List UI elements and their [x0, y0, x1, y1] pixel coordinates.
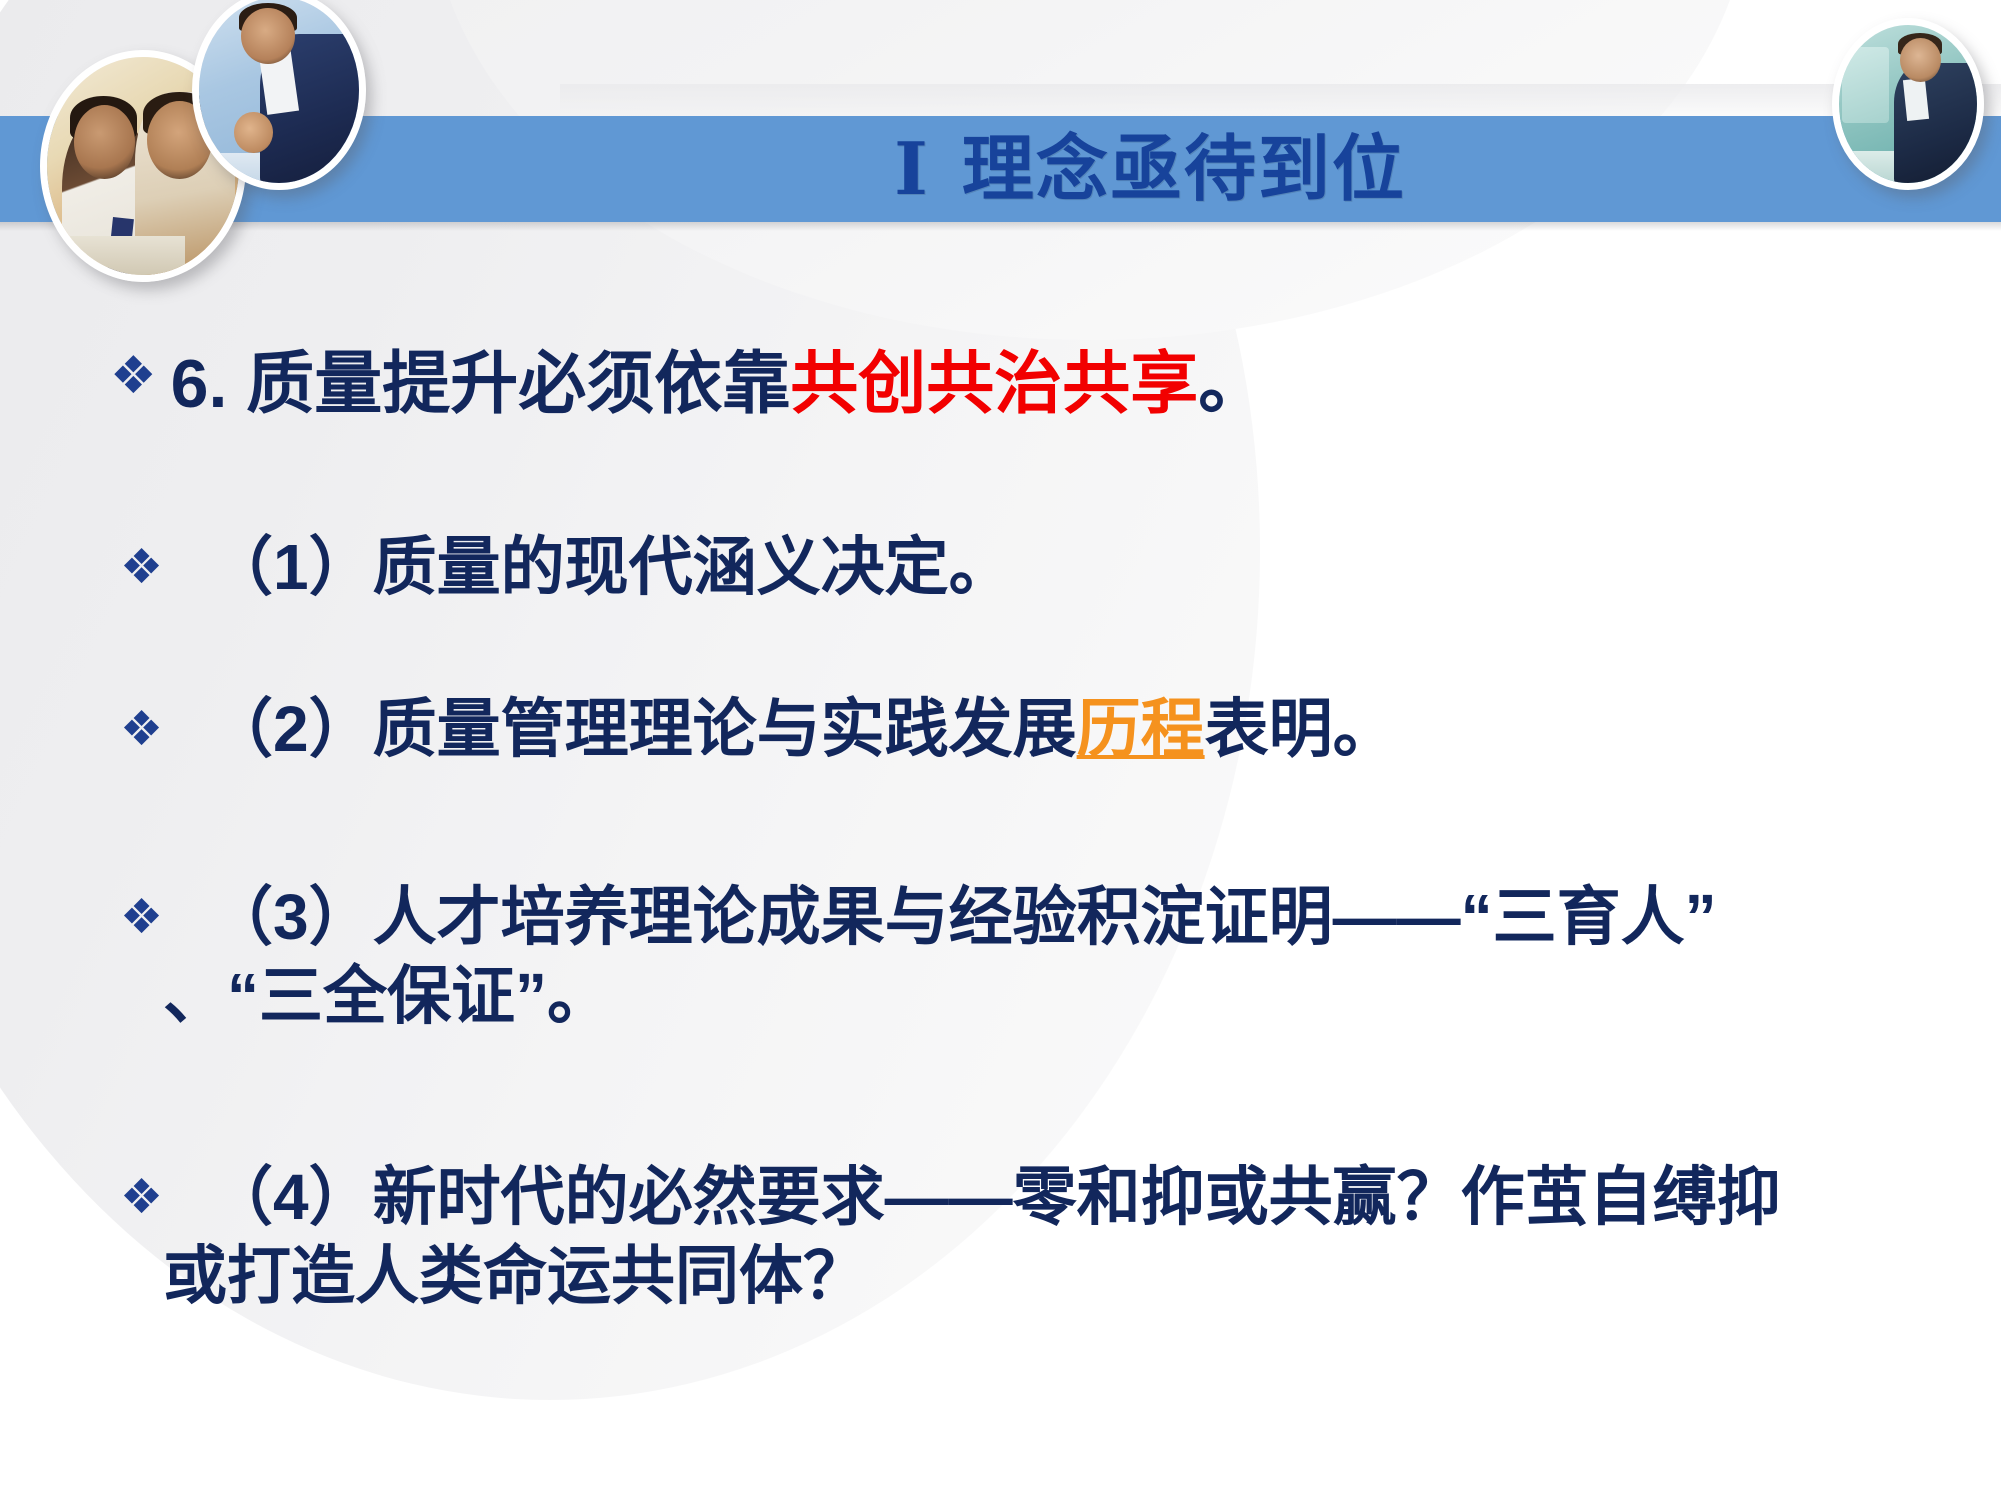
bullet-item-2-text: （2）质量管理理论与实践发展历程表明。 [209, 690, 1397, 769]
bullet-diamond-icon: ❖ [120, 894, 163, 942]
bullet-item-2-seg-3: 表明。 [1205, 693, 1397, 765]
bullet-item-6-text: 6. 质量提升必须依靠共创共治共享。 [171, 342, 1267, 426]
bullet-item-2-seg-2-highlight: 历程 [1077, 693, 1205, 765]
bullet-item-6: ❖ 6. 质量提升必须依靠共创共治共享。 [110, 342, 1266, 426]
bullet-item-3-line-2: 、“三全保证”。 [163, 957, 1717, 1036]
bullet-item-6-seg-3: 。 [1198, 346, 1266, 422]
slide-body: ❖ 6. 质量提升必须依靠共创共治共享。 ❖ （1）质量的现代涵义决定。 ❖ （… [0, 0, 2001, 1501]
bullet-item-3: ❖ （3）人才培养理论成果与经验积淀证明——“三育人”、“三全保证”。 [120, 878, 1950, 1037]
bullet-diamond-icon: ❖ [120, 1174, 163, 1222]
bullet-diamond-icon: ❖ [120, 544, 163, 592]
bullet-item-4-text: （4）新时代的必然要求——零和抑或共赢？作茧自缚抑或打造人类命运共同体？ [209, 1158, 1781, 1317]
bullet-item-6-seg-1: 6. 质量提升必须依靠 [171, 346, 791, 422]
bullet-item-6-seg-2-highlight: 共创共治共享 [790, 346, 1198, 422]
bullet-item-1: ❖ （1）质量的现代涵义决定。 [120, 528, 1013, 607]
presentation-slide: Ⅰ理念亟待到位 [0, 0, 2001, 1501]
bullet-item-4: ❖ （4）新时代的必然要求——零和抑或共赢？作茧自缚抑或打造人类命运共同体？ [120, 1158, 1950, 1317]
bullet-diamond-icon: ❖ [110, 350, 157, 402]
bullet-diamond-icon: ❖ [120, 706, 163, 754]
bullet-item-3-text: （3）人才培养理论成果与经验积淀证明——“三育人”、“三全保证”。 [209, 878, 1717, 1037]
bullet-item-2-seg-1: （2）质量管理理论与实践发展 [209, 693, 1077, 765]
bullet-item-2: ❖ （2）质量管理理论与实践发展历程表明。 [120, 690, 1397, 769]
bullet-item-4-line-1: （4）新时代的必然要求——零和抑或共赢？作茧自缚抑 [209, 1161, 1781, 1233]
bullet-item-4-line-2: 或打造人类命运共同体？ [163, 1237, 1781, 1316]
bullet-item-1-text: （1）质量的现代涵义决定。 [209, 528, 1013, 607]
bullet-item-3-line-1: （3）人才培养理论成果与经验积淀证明——“三育人” [209, 881, 1717, 953]
